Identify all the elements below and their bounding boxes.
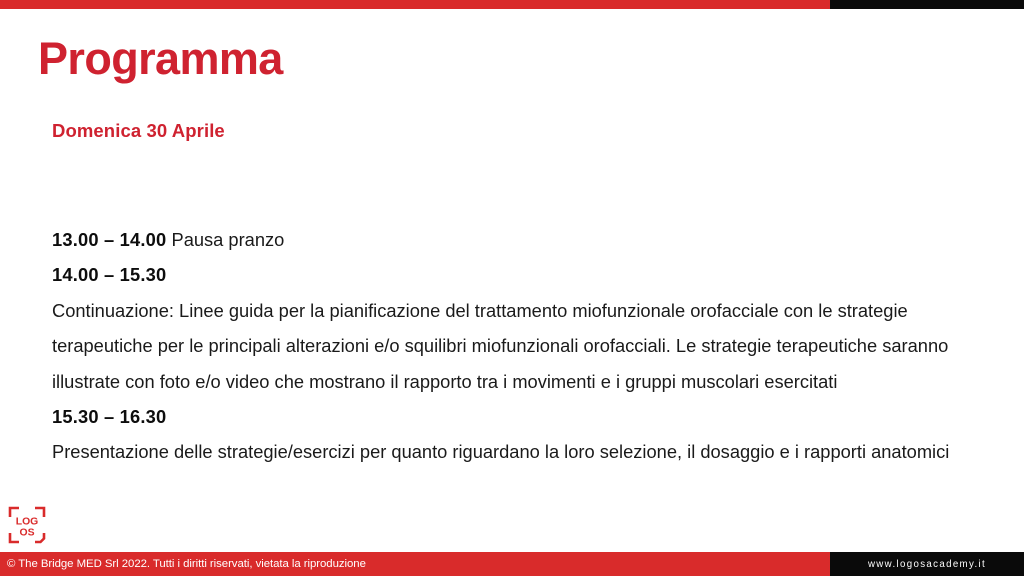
- schedule-time: 14.00 – 15.30: [52, 264, 166, 285]
- schedule-item: 14.00 – 15.30: [52, 257, 982, 292]
- schedule-time: 15.30 – 16.30: [52, 406, 166, 427]
- schedule-description: Presentazione delle strategie/esercizi p…: [52, 434, 967, 469]
- footer-copyright-section: © The Bridge MED Srl 2022. Tutti i dirit…: [0, 552, 830, 576]
- footer-bar: © The Bridge MED Srl 2022. Tutti i dirit…: [0, 552, 1024, 576]
- schedule-item: 13.00 – 14.00 Pausa pranzo: [52, 222, 982, 257]
- logo-text-line2: OS: [19, 528, 34, 539]
- logos-logo-icon: LOG OS: [8, 506, 46, 544]
- top-bar: [0, 0, 1024, 9]
- schedule-description: Continuazione: Linee guida per la pianif…: [52, 293, 967, 399]
- schedule-item: 15.30 – 16.30: [52, 399, 982, 434]
- top-bar-red-segment: [0, 0, 830, 9]
- page-title: Programma: [38, 34, 283, 84]
- slide: Programma Domenica 30 Aprile 13.00 – 14.…: [0, 0, 1024, 576]
- schedule-list: 13.00 – 14.00 Pausa pranzo 14.00 – 15.30…: [52, 222, 982, 470]
- footer-copyright-text: © The Bridge MED Srl 2022. Tutti i dirit…: [0, 558, 366, 570]
- schedule-label: Pausa pranzo: [172, 229, 285, 250]
- schedule-time: 13.00 – 14.00: [52, 229, 166, 250]
- page-subtitle: Domenica 30 Aprile: [52, 120, 225, 142]
- footer-website-section: www.logosacademy.it: [830, 552, 1024, 576]
- logo-text-line1: LOG: [16, 517, 39, 528]
- top-bar-black-segment: [830, 0, 1024, 9]
- footer-website-text: www.logosacademy.it: [868, 559, 986, 570]
